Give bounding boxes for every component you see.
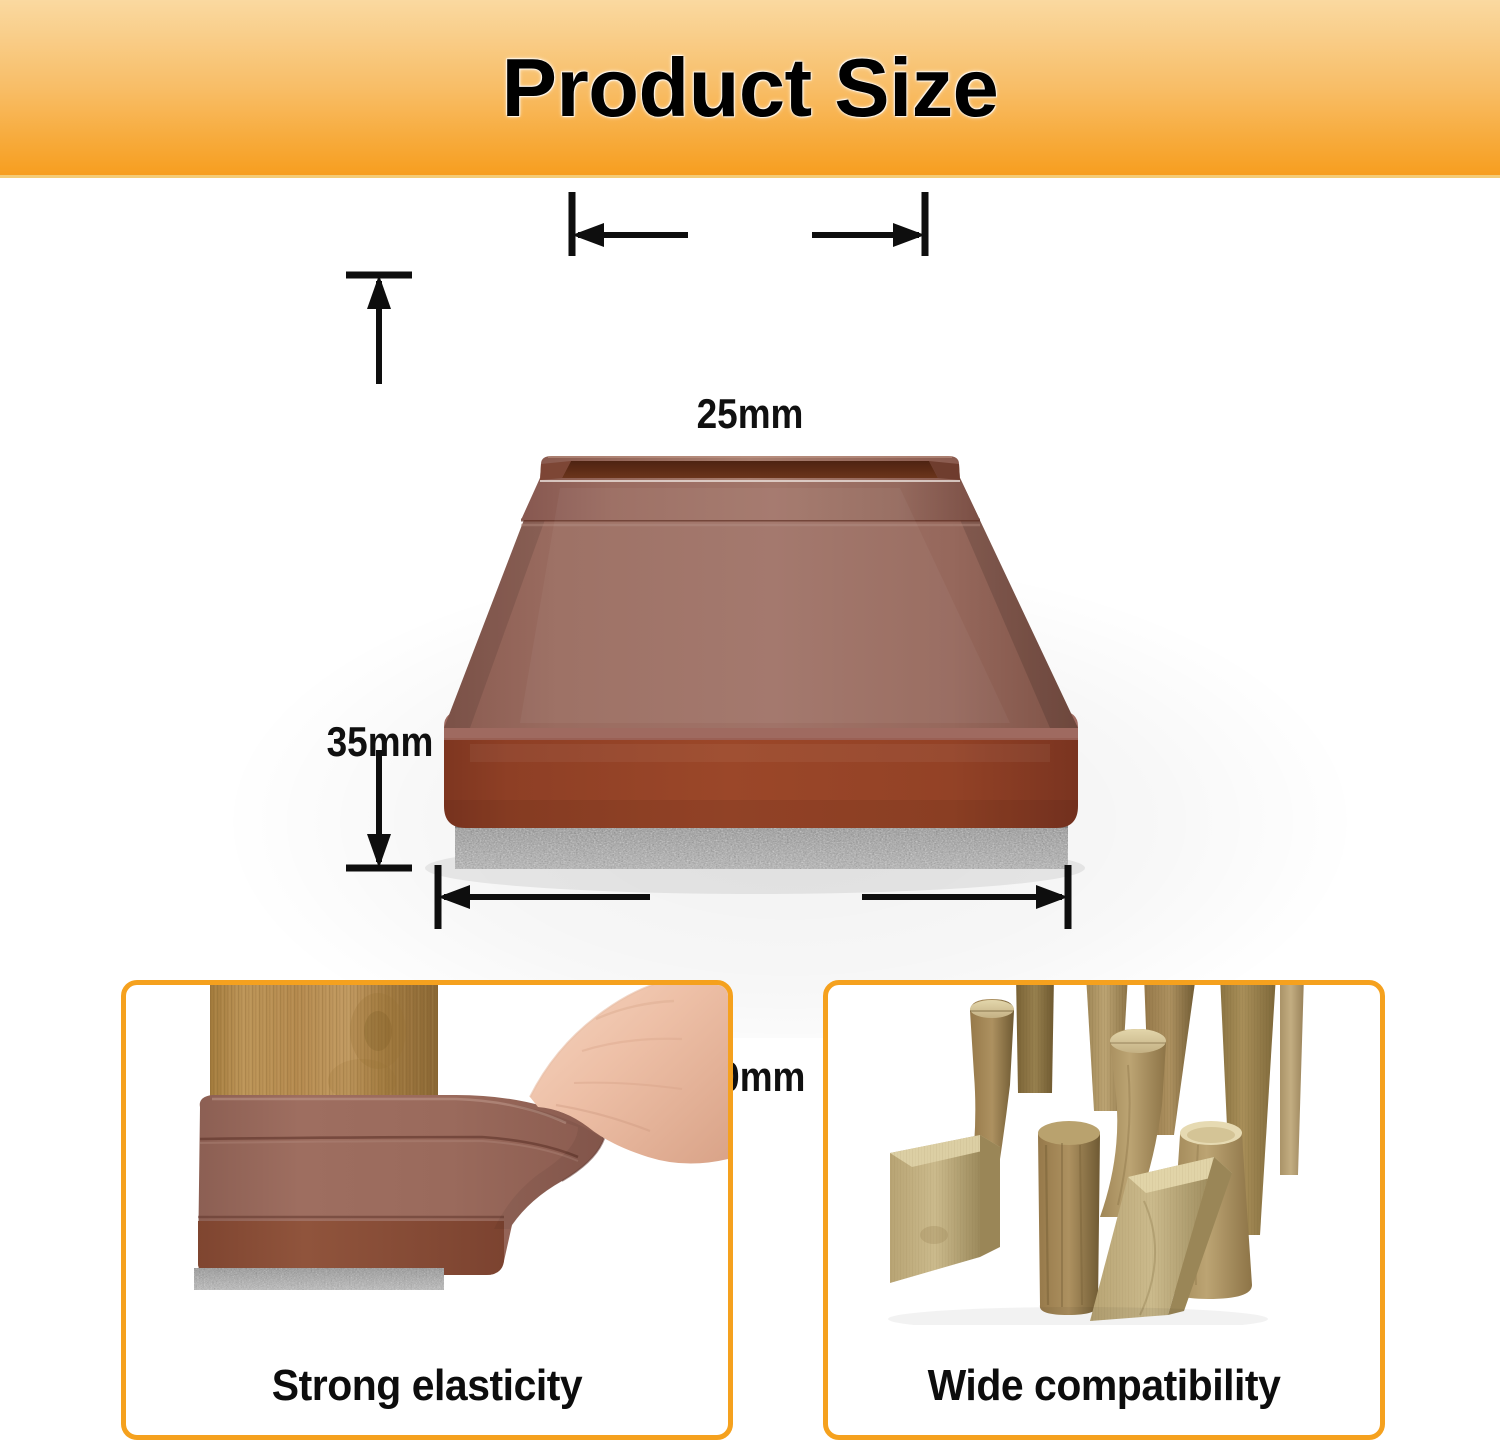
- cap-opening: [540, 456, 960, 481]
- dimension-label-top-width: 25mm: [653, 390, 847, 438]
- dimension-label-height: 35mm: [283, 718, 477, 766]
- wood-leg-round-column: [1038, 1121, 1100, 1315]
- product-illustration: [0, 178, 1500, 960]
- product-dimension-diagram: 25mm 35mm 40mm: [0, 178, 1500, 960]
- wooden-furniture-leg: [210, 985, 438, 1105]
- feature-panels: Strong elasticity: [0, 960, 1500, 1427]
- panel-caption-wide-compatibility: Wide compatibility: [847, 1361, 1360, 1411]
- wide-compatibility-illustration: [828, 985, 1380, 1325]
- feature-panel-wide-compatibility: Wide compatibility: [823, 980, 1385, 1440]
- wood-leg-back-tall-1: [1016, 985, 1054, 1093]
- wood-leg-back-slim: [1280, 985, 1304, 1175]
- felt-pad: [455, 825, 1068, 869]
- wood-leg-square-block-left: [890, 1135, 1000, 1283]
- header-banner: Product Size: [0, 0, 1500, 178]
- strong-elasticity-illustration: [126, 985, 728, 1325]
- feature-panel-strong-elasticity: Strong elasticity: [121, 980, 733, 1440]
- dimension-top-width: [572, 192, 925, 256]
- product-size-infographic: Product Size: [0, 0, 1500, 1427]
- silicone-cap-stretched: [198, 1095, 604, 1275]
- panel-caption-strong-elasticity: Strong elasticity: [147, 1361, 707, 1411]
- page-title: Product Size: [0, 40, 1500, 136]
- dimension-height: [346, 275, 412, 868]
- felt-pad-small: [194, 1268, 444, 1290]
- cap-cavity: [562, 461, 938, 478]
